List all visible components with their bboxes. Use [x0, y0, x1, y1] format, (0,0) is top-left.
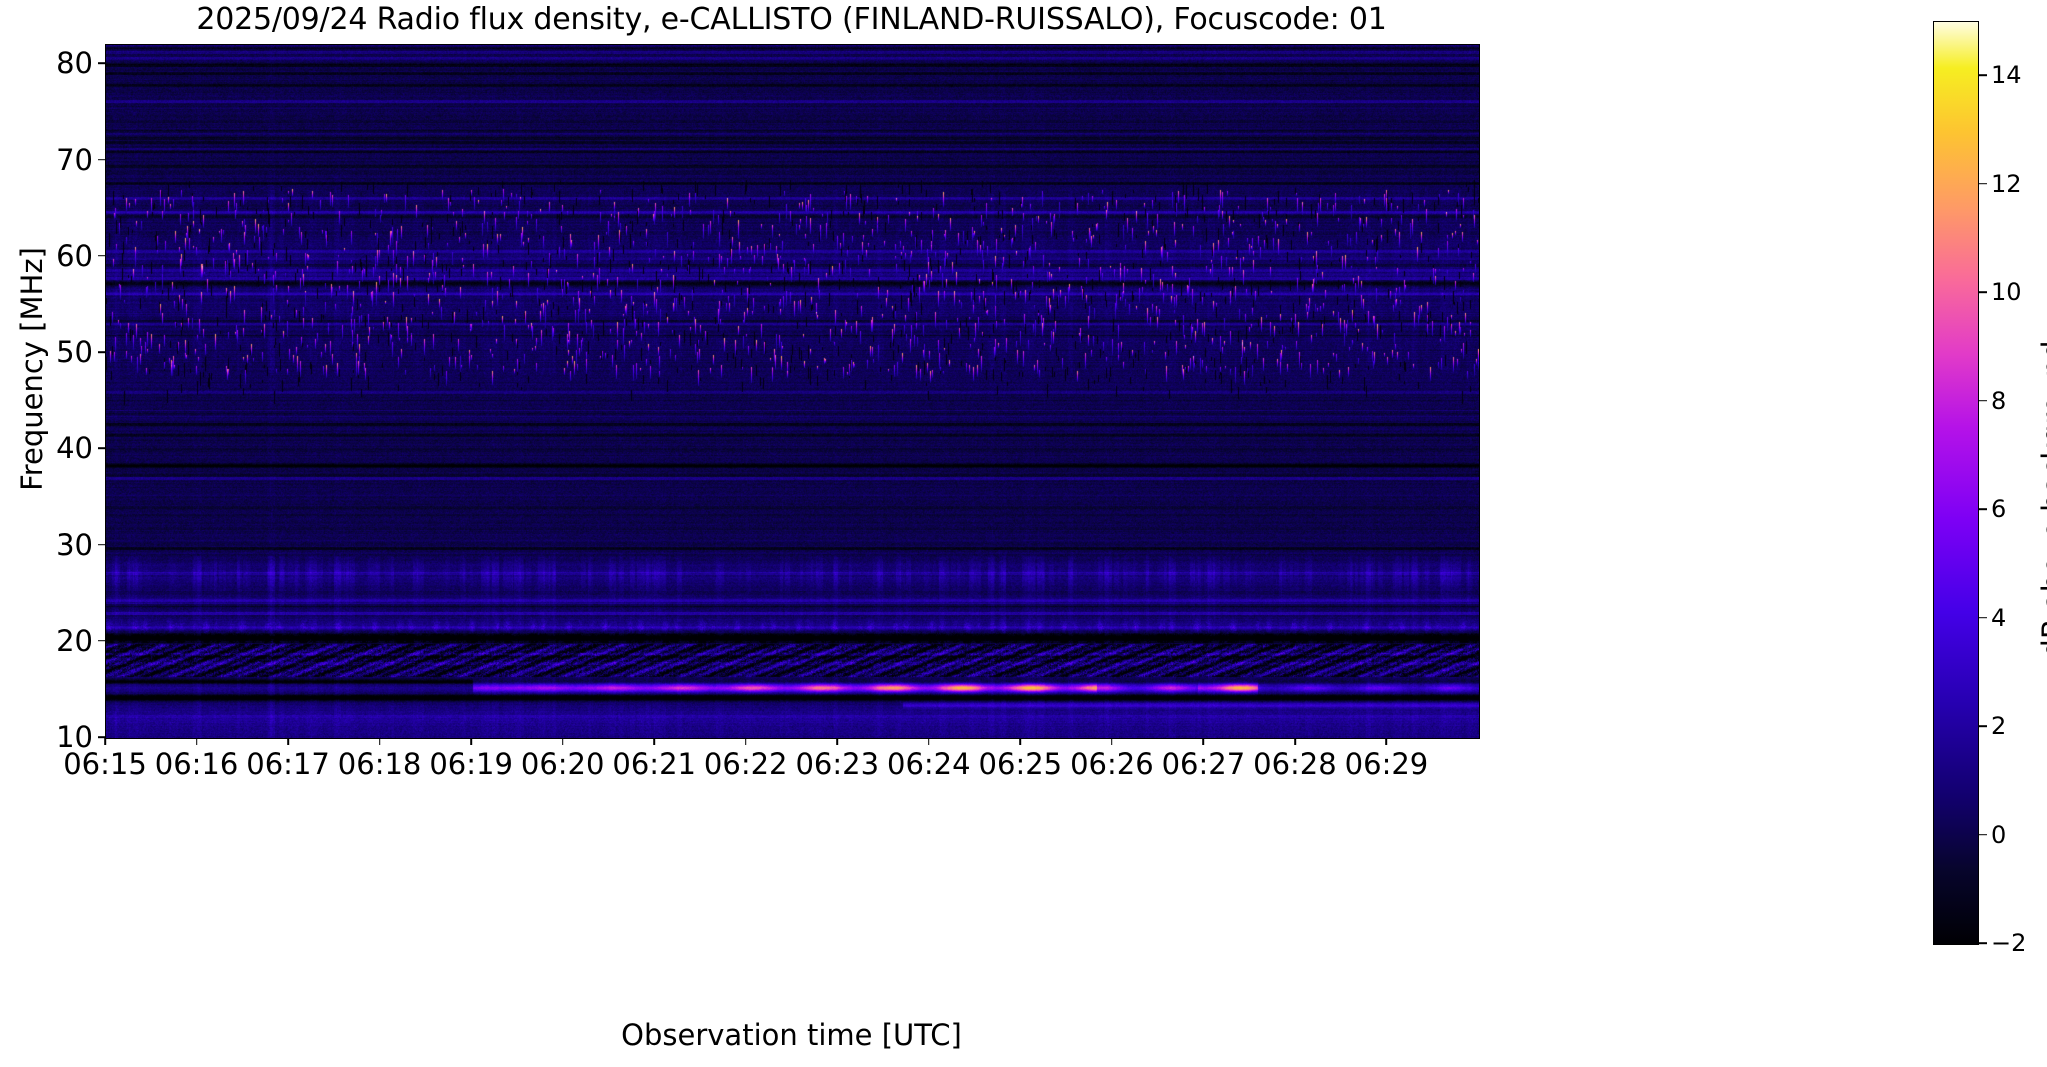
colorbar-tick-mark	[1979, 834, 1987, 836]
colorbar-label: dB above background	[2036, 149, 2047, 849]
y-tick-label: 80	[56, 46, 93, 80]
colorbar-gradient	[1934, 22, 1978, 944]
y-tick-mark	[98, 159, 105, 161]
colorbar-tick-label: 4	[1991, 604, 2006, 632]
spectrogram-axes	[105, 44, 1480, 739]
x-tick-label: 06:21	[612, 747, 696, 781]
colorbar-tick-label: 14	[1991, 61, 2022, 89]
x-tick-mark	[196, 738, 198, 745]
colorbar-tick-mark	[1979, 725, 1987, 727]
x-tick-label: 06:24	[887, 747, 971, 781]
colorbar-tick-label: 12	[1991, 170, 2022, 198]
y-tick-mark	[98, 544, 105, 546]
x-tick-label: 06:17	[246, 747, 330, 781]
y-tick-label: 30	[56, 528, 93, 562]
x-tick-mark	[379, 738, 381, 745]
colorbar-tick-label: 0	[1991, 821, 2006, 849]
y-tick-label: 70	[56, 143, 93, 177]
x-tick-mark	[470, 738, 472, 745]
y-tick-label: 40	[56, 431, 93, 465]
x-axis-label: Observation time [UTC]	[105, 1018, 1478, 1052]
colorbar-tick-label: 6	[1991, 495, 2006, 523]
x-tick-mark	[928, 738, 930, 745]
colorbar-tick-label: 10	[1991, 278, 2022, 306]
x-tick-label: 06:27	[1162, 747, 1246, 781]
x-tick-label: 06:26	[1070, 747, 1154, 781]
colorbar-tick-label: −2	[1991, 929, 2026, 957]
x-tick-label: 06:28	[1253, 747, 1337, 781]
figure-title: 2025/09/24 Radio flux density, e-CALLIST…	[105, 2, 1478, 37]
y-tick-label: 60	[56, 239, 93, 273]
x-tick-mark	[1020, 738, 1022, 745]
x-tick-mark	[745, 738, 747, 745]
colorbar-tick-mark	[1979, 400, 1987, 402]
x-tick-label: 06:16	[155, 747, 239, 781]
x-tick-mark	[104, 738, 106, 745]
y-tick-mark	[98, 447, 105, 449]
colorbar-tick-label: 2	[1991, 712, 2006, 740]
x-tick-label: 06:19	[429, 747, 513, 781]
x-tick-mark	[1386, 738, 1388, 745]
colorbar-tick-mark	[1979, 74, 1987, 76]
x-tick-mark	[653, 738, 655, 745]
spectrogram-image	[106, 45, 1479, 738]
x-tick-mark	[836, 738, 838, 745]
x-tick-mark	[1203, 738, 1205, 745]
figure-canvas: 2025/09/24 Radio flux density, e-CALLIST…	[0, 0, 2047, 1067]
colorbar-tick-label: 8	[1991, 387, 2006, 415]
x-tick-mark	[1294, 738, 1296, 745]
x-tick-mark	[1111, 738, 1113, 745]
x-tick-label: 06:25	[979, 747, 1063, 781]
colorbar-tick-mark	[1979, 291, 1987, 293]
y-tick-label: 50	[56, 335, 93, 369]
y-tick-mark	[98, 255, 105, 257]
x-tick-label: 06:15	[63, 747, 147, 781]
y-tick-mark	[98, 640, 105, 642]
colorbar-tick-mark	[1979, 617, 1987, 619]
colorbar	[1933, 21, 1979, 945]
y-tick-mark	[98, 351, 105, 353]
x-tick-label: 06:18	[338, 747, 422, 781]
colorbar-tick-mark	[1979, 942, 1987, 944]
x-tick-mark	[562, 738, 564, 745]
x-tick-label: 06:20	[521, 747, 605, 781]
colorbar-tick-mark	[1979, 508, 1987, 510]
x-tick-mark	[287, 738, 289, 745]
y-tick-label: 20	[56, 624, 93, 658]
x-tick-label: 06:23	[795, 747, 879, 781]
x-tick-label: 06:22	[704, 747, 788, 781]
y-axis-label: Frequency [MHz]	[15, 19, 49, 719]
colorbar-tick-mark	[1979, 183, 1987, 185]
y-tick-mark	[98, 62, 105, 64]
x-tick-label: 06:29	[1345, 747, 1429, 781]
